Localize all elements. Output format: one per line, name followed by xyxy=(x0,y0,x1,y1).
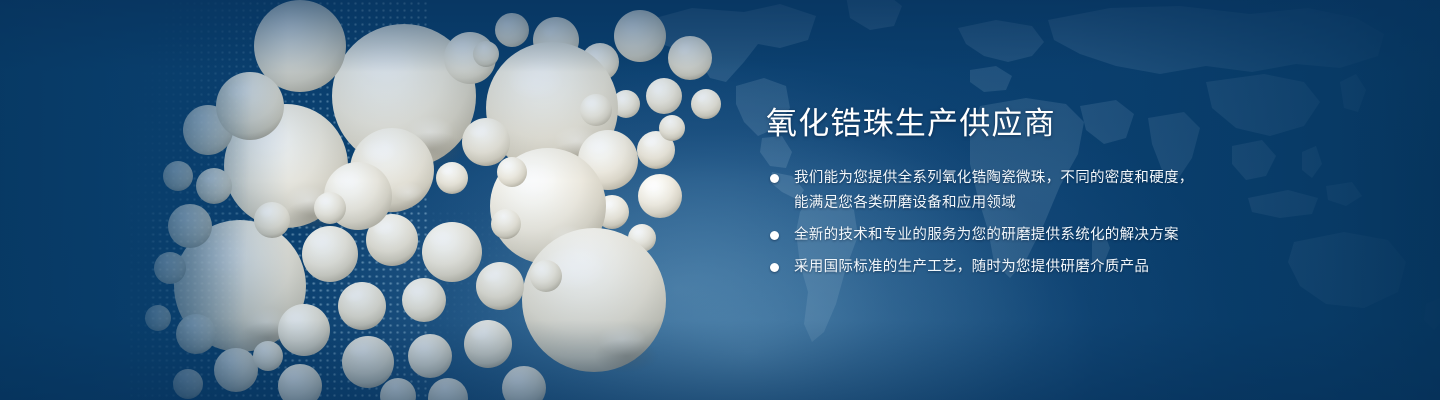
banner-bullet-list: 我们能为您提供全系列氧化锆陶瓷微珠，不同的密度和硬度， 能满足您各类研磨设备和应… xyxy=(766,166,1216,280)
banner-copy: 氧化锆珠生产供应商 我们能为您提供全系列氧化锆陶瓷微珠，不同的密度和硬度， 能满… xyxy=(766,104,1216,280)
list-item: 全新的技术和专业的服务为您的研磨提供系统化的解决方案 xyxy=(766,223,1216,248)
bullet-line: 我们能为您提供全系列氧化锆陶瓷微珠，不同的密度和硬度， xyxy=(794,166,1216,191)
list-item: 采用国际标准的生产工艺，随时为您提供研磨介质产品 xyxy=(766,255,1216,280)
bullet-line: 全新的技术和专业的服务为您的研磨提供系统化的解决方案 xyxy=(794,223,1216,248)
bullet-line: 采用国际标准的生产工艺，随时为您提供研磨介质产品 xyxy=(794,255,1216,280)
banner-headline: 氧化锆珠生产供应商 xyxy=(766,104,1216,144)
bullet-dot-icon xyxy=(770,231,779,240)
bullet-line: 能满足您各类研磨设备和应用领域 xyxy=(794,191,1216,216)
list-item: 我们能为您提供全系列氧化锆陶瓷微珠，不同的密度和硬度， 能满足您各类研磨设备和应… xyxy=(766,166,1216,216)
bullet-dot-icon xyxy=(770,263,779,272)
bullet-dot-icon xyxy=(770,174,779,183)
background-vertical-vignette xyxy=(0,0,1440,400)
hero-banner: 氧化锆珠生产供应商 我们能为您提供全系列氧化锆陶瓷微珠，不同的密度和硬度， 能满… xyxy=(0,0,1440,400)
